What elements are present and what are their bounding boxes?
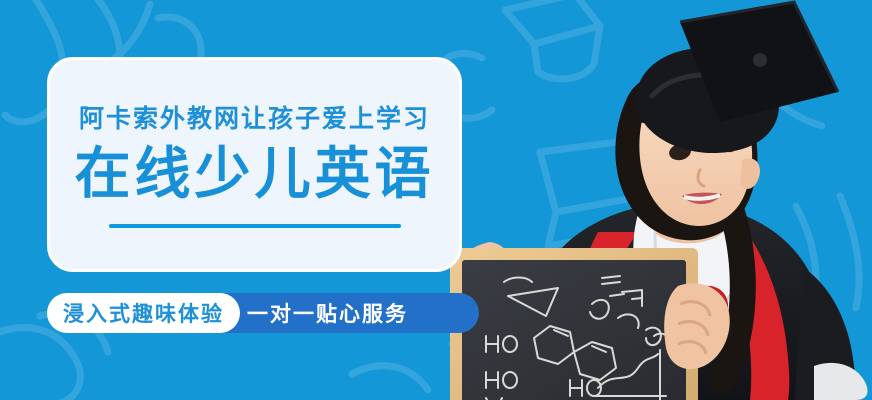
tagline-secondary-label: 一对一贴心服务 [247, 298, 408, 328]
promo-banner: 阿卡索外教网让孩子爱上学习 在线少儿英语 浸入式趣味体验 一对一贴心服务 [0, 0, 872, 400]
graduation-girl-photo [442, 0, 872, 400]
card-title: 在线少儿英语 [75, 144, 435, 204]
graduation-cap [636, 2, 838, 153]
tagline-primary-pill: 浸入式趣味体验 [47, 293, 240, 333]
tagline-secondary-label-wrap: 一对一贴心服务 [247, 293, 408, 333]
tagline-primary-label: 浸入式趣味体验 [63, 298, 224, 328]
card-divider [109, 224, 401, 228]
card-kicker: 阿卡索外教网让孩子爱上学习 [79, 107, 430, 132]
blackboard [450, 248, 698, 400]
headline-card: 阿卡索外教网让孩子爱上学习 在线少儿英语 [47, 57, 462, 272]
tagline-group: 浸入式趣味体验 一对一贴心服务 [47, 293, 240, 333]
